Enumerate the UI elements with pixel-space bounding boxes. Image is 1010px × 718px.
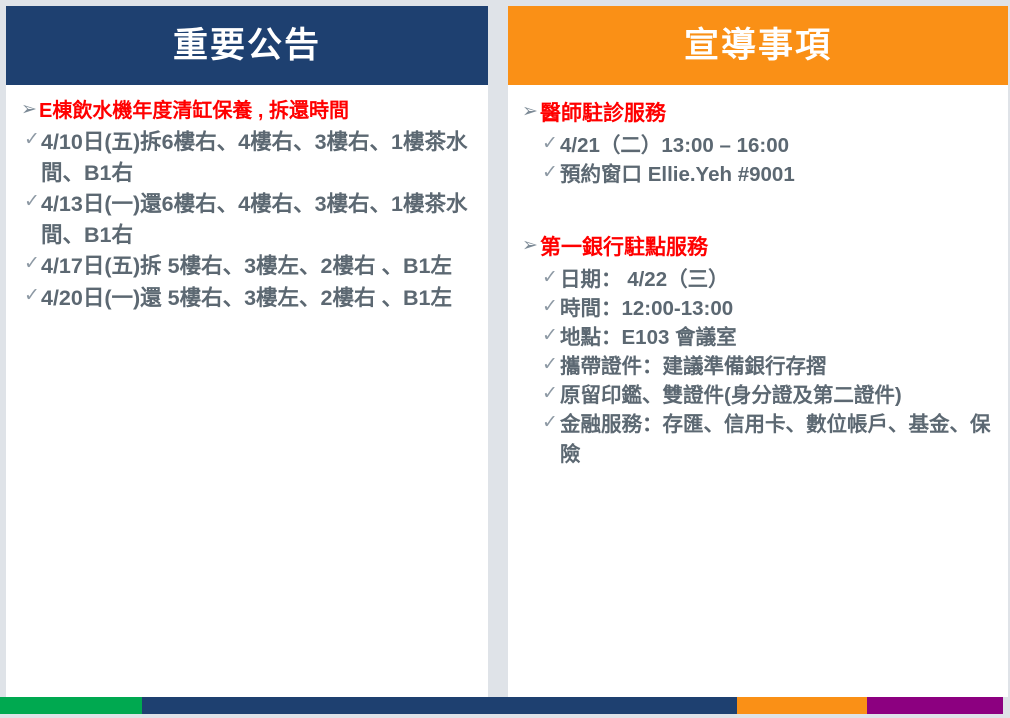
bullet-detail-label: 4/17日(五)拆 5樓右、3樓左、2樓右 、B1左 [41, 251, 488, 282]
bullet-group-spacer [508, 189, 1008, 233]
bullet-detail-label: 金融服務：存匯、信用卡、數位帳戶、基金、保險 [560, 410, 1008, 468]
arrow-bullet-icon: ➢ [6, 97, 39, 124]
bottom-bar-segment-purple [867, 697, 1003, 714]
check-bullet-icon: ✓ [6, 283, 41, 310]
bottom-bar-segment-green [0, 697, 142, 714]
check-bullet-icon: ✓ [508, 410, 560, 437]
bullet-detail-row: ✓預約窗口 Ellie.Yeh #9001 [508, 160, 1008, 189]
panel-body-important-announcement: ➢E棟飲水機年度清缸保養 , 拆還時間✓4/10日(五)拆6樓右、4樓右、3樓右… [6, 85, 488, 697]
bottom-bar-segment-navy [142, 697, 737, 714]
panel-header-awareness-notices: 宣導事項 [508, 6, 1008, 85]
bullet-detail-row: ✓4/10日(五)拆6樓右、4樓右、3樓右、1樓茶水間、B1右 [6, 127, 488, 188]
bullet-detail-label: 原留印鑑、雙證件(身分證及第二證件) [560, 381, 1008, 410]
bullet-detail-label: 4/21（二）13:00 – 16:00 [560, 131, 1008, 160]
check-bullet-icon: ✓ [508, 265, 560, 292]
bullet-detail-label: 地點：E103 會議室 [560, 323, 1008, 352]
panel-title-important-announcement: 重要公告 [173, 28, 321, 63]
bottom-bar-segment-trailing-gray [1003, 697, 1010, 714]
panel-title-awareness-notices: 宣導事項 [684, 28, 832, 63]
bullet-detail-label: 4/10日(五)拆6樓右、4樓右、3樓右、1樓茶水間、B1右 [41, 127, 488, 188]
panel-body-awareness-notices: ➢醫師駐診服務✓4/21（二）13:00 – 16:00✓預約窗口 Ellie.… [508, 85, 1008, 697]
bullet-heading-row: ➢醫師駐診服務 [508, 99, 1008, 129]
check-bullet-icon: ✓ [508, 323, 560, 350]
bullet-detail-row: ✓4/20日(一)還 5樓右、3樓左、2樓右 、B1左 [6, 283, 488, 314]
bullet-detail-row: ✓時間：12:00-13:00 [508, 294, 1008, 323]
bullet-detail-row: ✓4/17日(五)拆 5樓右、3樓左、2樓右 、B1左 [6, 251, 488, 282]
check-bullet-icon: ✓ [6, 189, 41, 216]
check-bullet-icon: ✓ [6, 251, 41, 278]
slide-canvas: 重要公告 ➢E棟飲水機年度清缸保養 , 拆還時間✓4/10日(五)拆6樓右、4樓… [0, 0, 1010, 718]
bullet-detail-row: ✓金融服務：存匯、信用卡、數位帳戶、基金、保險 [508, 410, 1008, 468]
bullet-detail-label: 預約窗口 Ellie.Yeh #9001 [560, 160, 1008, 189]
bullet-detail-row: ✓4/21（二）13:00 – 16:00 [508, 131, 1008, 160]
bullet-detail-label: 4/20日(一)還 5樓右、3樓左、2樓右 、B1左 [41, 283, 488, 314]
bottom-bar-segment-orange [737, 697, 867, 714]
bullet-detail-row: ✓日期： 4/22（三） [508, 265, 1008, 294]
bullet-detail-row: ✓4/13日(一)還6樓右、4樓右、3樓右、1樓茶水間、B1右 [6, 189, 488, 250]
panel-important-announcement: 重要公告 ➢E棟飲水機年度清缸保養 , 拆還時間✓4/10日(五)拆6樓右、4樓… [6, 6, 488, 697]
bullet-detail-row: ✓原留印鑑、雙證件(身分證及第二證件) [508, 381, 1008, 410]
check-bullet-icon: ✓ [508, 381, 560, 408]
arrow-bullet-icon: ➢ [508, 233, 540, 260]
bullet-heading-label: 第一銀行駐點服務 [540, 233, 1008, 263]
check-bullet-icon: ✓ [6, 127, 41, 154]
bullet-detail-label: 4/13日(一)還6樓右、4樓右、3樓右、1樓茶水間、B1右 [41, 189, 488, 250]
check-bullet-icon: ✓ [508, 131, 560, 158]
bullet-heading-label: E棟飲水機年度清缸保養 , 拆還時間 [39, 97, 488, 125]
check-bullet-icon: ✓ [508, 352, 560, 379]
check-bullet-icon: ✓ [508, 294, 560, 321]
bullet-detail-label: 時間：12:00-13:00 [560, 294, 1008, 323]
panel-awareness-notices: 宣導事項 ➢醫師駐診服務✓4/21（二）13:00 – 16:00✓預約窗口 E… [508, 6, 1008, 697]
check-bullet-icon: ✓ [508, 160, 560, 187]
bullet-heading-label: 醫師駐診服務 [540, 99, 1008, 129]
bottom-color-bar [0, 697, 1010, 714]
panel-header-important-announcement: 重要公告 [6, 6, 488, 85]
bullet-detail-label: 日期： 4/22（三） [560, 265, 1008, 294]
bullet-detail-row: ✓地點：E103 會議室 [508, 323, 1008, 352]
bullet-heading-row: ➢E棟飲水機年度清缸保養 , 拆還時間 [6, 97, 488, 125]
bullet-heading-row: ➢第一銀行駐點服務 [508, 233, 1008, 263]
arrow-bullet-icon: ➢ [508, 99, 540, 126]
bullet-detail-row: ✓攜帶證件：建議準備銀行存摺 [508, 352, 1008, 381]
bullet-detail-label: 攜帶證件：建議準備銀行存摺 [560, 352, 1008, 381]
